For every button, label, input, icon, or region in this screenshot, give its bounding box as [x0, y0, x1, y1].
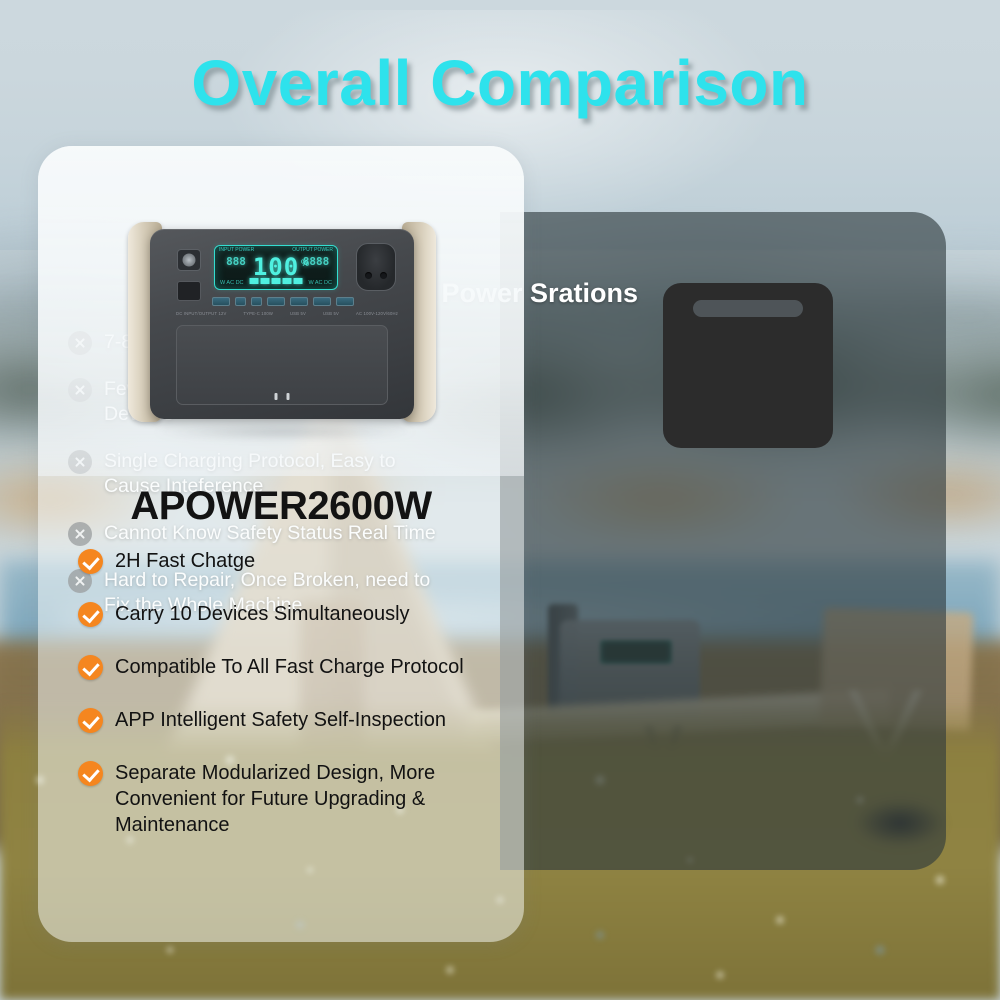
list-item: APP Intelligent Safety Self-Inspection — [78, 707, 528, 733]
port-label-right: AC 100V-120V/60Hz — [356, 311, 398, 316]
type-c-port-1 — [235, 297, 246, 306]
port-label-center-a: TYPE-C 100W — [243, 311, 273, 316]
check-icon — [78, 708, 103, 733]
port-label-c1: USB 5V — [290, 311, 306, 316]
lcd-output-readout: 8888 — [301, 255, 331, 281]
usb-port-1 — [267, 297, 285, 306]
dc-port — [212, 297, 230, 306]
usb-port-4 — [336, 297, 354, 306]
lcd-battery-percent: 100 — [253, 253, 299, 281]
lcd-input-readout: 888 — [221, 255, 251, 281]
lcd-foot-left: W AC DC — [220, 280, 244, 286]
list-item-label: 2H Fast Chatge — [115, 548, 255, 574]
check-icon — [78, 549, 103, 574]
check-icon — [78, 761, 103, 786]
list-item-label: APP Intelligent Safety Self-Inspection — [115, 707, 446, 733]
lcd-label-left: INPUT POWER — [219, 247, 254, 253]
comparison-infographic: Overall Comparison Other Power Srations … — [0, 0, 1000, 1000]
list-item: 2H Fast Chatge — [78, 548, 528, 574]
list-item: Compatible To All Fast Charge Protocol — [78, 654, 528, 680]
port-row — [212, 295, 362, 307]
check-icon — [78, 602, 103, 627]
check-icon — [78, 655, 103, 680]
list-item-label: Separate Modularized Design, More Conven… — [115, 760, 435, 838]
list-item: Separate Modularized Design, More Conven… — [78, 760, 528, 838]
port-label-c2: USB 5V — [323, 311, 339, 316]
port-labels: DC INPUT/OUTPUT 12V TYPE-C 100W USB 5V U… — [176, 311, 398, 316]
page-title: Overall Comparison — [0, 46, 1000, 120]
apower-heading: APOWER2600W — [38, 484, 524, 529]
fan-vent-icon — [177, 249, 201, 271]
port-label-left: DC INPUT/OUTPUT 12V — [176, 311, 227, 316]
product-body: INPUT POWER OUTPUT POWER 888 100 % 8888 … — [150, 229, 414, 419]
lcd-battery-bars — [250, 278, 303, 284]
apower-feature-list: 2H Fast Chatge Carry 10 Devices Simultan… — [78, 548, 528, 865]
list-item-label: Compatible To All Fast Charge Protocol — [115, 654, 464, 680]
lid-latch — [275, 393, 290, 400]
list-item: Carry 10 Devices Simultaneously — [78, 601, 528, 627]
list-item-label: Carry 10 Devices Simultaneously — [115, 601, 410, 627]
usb-port-2 — [290, 297, 308, 306]
ac-outlet — [356, 243, 396, 291]
type-c-port-2 — [251, 297, 262, 306]
power-switch — [177, 281, 201, 301]
usb-port-3 — [313, 297, 331, 306]
apower-product-image: INPUT POWER OUTPUT POWER 888 100 % 8888 … — [128, 222, 436, 428]
lcd-display: INPUT POWER OUTPUT POWER 888 100 % 8888 … — [214, 245, 338, 290]
lcd-foot-right: W AC DC — [308, 280, 332, 286]
battery-module-lid — [176, 325, 388, 405]
